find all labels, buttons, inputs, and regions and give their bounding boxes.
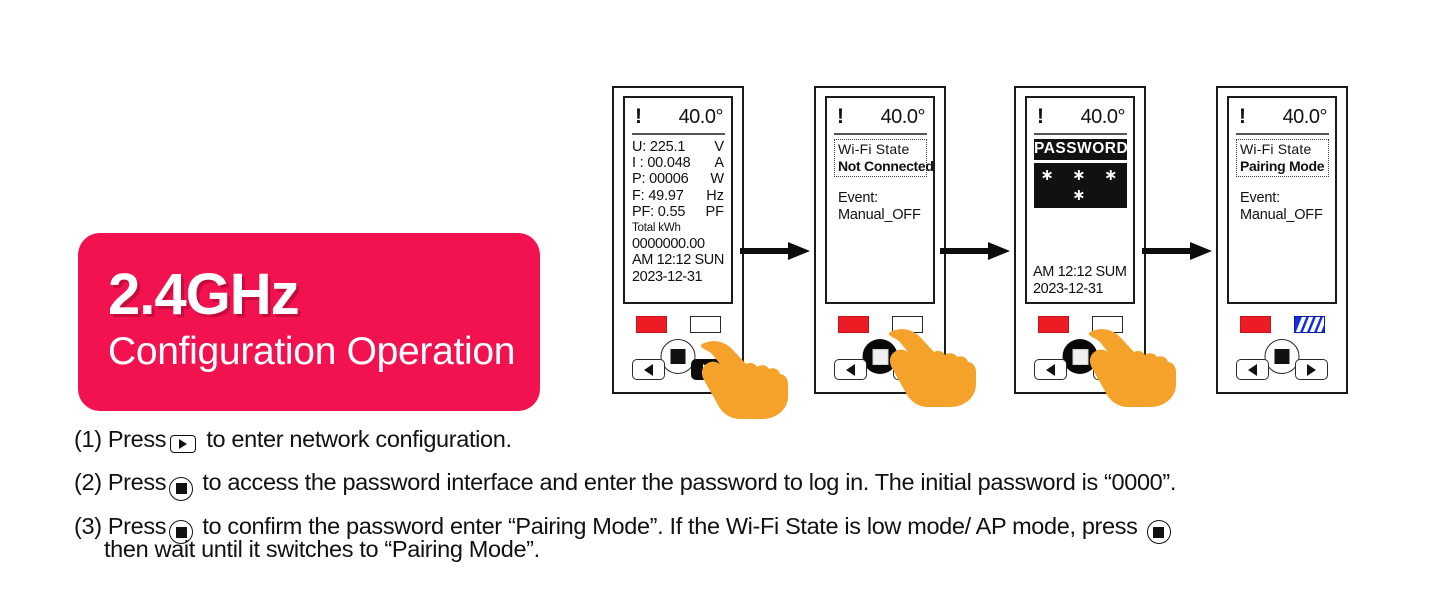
reading-row: PF: 0.55 PF [632, 204, 725, 220]
wifi-state-box: Wi-Fi State Not Connected [834, 139, 927, 177]
right-arrow-button-icon [170, 435, 196, 453]
reading-label: PF: 0.55 [632, 204, 685, 220]
reading-label: U: 225.1 [632, 139, 685, 155]
banner-2-4ghz: 2.4GHz Configuration Operation [78, 233, 540, 411]
reading-unit: Hz [706, 188, 725, 204]
wifi-state-value: Pairing Mode [1240, 158, 1325, 175]
measurement-list: U: 225.1 V I : 00.048 A P: 00006 W F: 49… [631, 139, 726, 286]
ok-button-icon [169, 477, 193, 501]
step-1-prefix: (1) Press [74, 424, 166, 455]
flow-arrow-icon [940, 240, 1012, 262]
reading-row: F: 49.97 Hz [632, 188, 725, 204]
device-panel-1: ! 40.0° U: 225.1 V I : 00.048 A P: 00006… [612, 86, 744, 394]
left-arrow-icon [644, 364, 653, 376]
alert-icon: ! [1239, 106, 1246, 127]
flow-arrow-icon [740, 240, 812, 262]
device-panel-3: ! 40.0° PASSWORD ∗ ∗ ∗ ∗ AM 12:12 SUM 20… [1014, 86, 1146, 394]
switch-indicator-red[interactable] [1240, 316, 1271, 333]
password-title-bar: PASSWORD [1034, 139, 1127, 160]
right-arrow-button[interactable] [893, 359, 926, 380]
ok-button-square [1072, 349, 1088, 365]
left-arrow-icon [846, 364, 855, 376]
left-arrow-button[interactable] [1236, 359, 1269, 380]
banner-subtitle: Configuration Operation [108, 330, 540, 375]
temperature-readout: 40.0° [1283, 107, 1327, 127]
keypad-3 [1025, 310, 1135, 386]
reading-label: F: 49.97 [632, 188, 684, 204]
switch-indicator-red[interactable] [838, 316, 869, 333]
left-arrow-icon [1046, 364, 1055, 376]
lcd-status-bar: ! 40.0° [833, 102, 928, 130]
reading-unit: PF [705, 204, 725, 220]
instruction-line-2: (2) Press to access the password interfa… [74, 467, 1424, 498]
date-readout: 2023-12-31 [1033, 281, 1128, 298]
step-2-prefix: (2) Press [74, 467, 166, 498]
left-arrow-button[interactable] [632, 359, 665, 380]
event-block: Event: Manual_OFF [1235, 190, 1330, 225]
alert-icon: ! [635, 106, 642, 127]
right-arrow-button[interactable] [691, 359, 724, 380]
total-kwh-label: Total kWh [632, 221, 725, 235]
left-arrow-button[interactable] [834, 359, 867, 380]
device-panel-4: ! 40.0° Wi-Fi State Pairing Mode Event: … [1216, 86, 1348, 394]
lcd-status-bar: ! 40.0° [631, 102, 726, 130]
lcd-screen-3: ! 40.0° PASSWORD ∗ ∗ ∗ ∗ AM 12:12 SUM 20… [1025, 96, 1135, 304]
keypad-2 [825, 310, 935, 386]
wifi-state-label: Wi-Fi State [838, 141, 923, 158]
step-2-text: to access the password interface and ent… [196, 467, 1176, 498]
wifi-state-label: Wi-Fi State [1240, 141, 1325, 158]
lcd-divider [834, 133, 927, 135]
reading-row: I : 00.048 A [632, 155, 725, 171]
alert-icon: ! [837, 106, 844, 127]
banner-title: 2.4GHz [108, 265, 540, 324]
lcd-divider [1236, 133, 1329, 135]
ok-button-square [671, 349, 686, 364]
device-panel-2: ! 40.0° Wi-Fi State Not Connected Event:… [814, 86, 946, 394]
lcd-status-bar: ! 40.0° [1235, 102, 1330, 130]
clock-readout: AM 12:12 SUN [632, 252, 725, 269]
switch-indicator-white[interactable] [690, 316, 721, 333]
reading-row: P: 00006 W [632, 171, 725, 187]
reading-unit: V [714, 139, 725, 155]
right-arrow-button[interactable] [1093, 359, 1126, 380]
lcd-divider [632, 133, 725, 135]
diagram-canvas: 2.4GHz Configuration Operation ! 40.0° U… [0, 0, 1445, 592]
clock-block: AM 12:12 SUM 2023-12-31 [1033, 264, 1128, 298]
switch-indicator-white[interactable] [892, 316, 923, 333]
right-arrow-button[interactable] [1295, 359, 1328, 380]
left-arrow-button[interactable] [1034, 359, 1067, 380]
password-mask-field[interactable]: ∗ ∗ ∗ ∗ [1034, 163, 1127, 208]
switch-indicator-white[interactable] [1092, 316, 1123, 333]
switch-indicator-red[interactable] [1038, 316, 1069, 333]
reading-label: I : 00.048 [632, 155, 690, 171]
keypad-1 [623, 310, 733, 386]
reading-label: P: 00006 [632, 171, 688, 187]
reading-unit: A [714, 155, 725, 171]
temperature-readout: 40.0° [1081, 107, 1125, 127]
lcd-screen-4: ! 40.0° Wi-Fi State Pairing Mode Event: … [1227, 96, 1337, 304]
lcd-status-bar: ! 40.0° [1033, 102, 1128, 130]
event-value: Manual_OFF [1240, 207, 1330, 224]
right-arrow-icon [1307, 364, 1316, 376]
flow-arrow-icon [1142, 240, 1214, 262]
ok-button-square [872, 349, 888, 365]
clock-readout: AM 12:12 SUM [1033, 264, 1128, 281]
reading-unit: W [710, 171, 725, 187]
wifi-active-icon[interactable] [1294, 316, 1325, 333]
ok-button-square [1275, 349, 1290, 364]
temperature-readout: 40.0° [881, 107, 925, 127]
lcd-divider [1034, 133, 1127, 135]
total-kwh-value: 0000000.00 [632, 236, 725, 253]
right-arrow-icon [703, 364, 712, 376]
instruction-line-1: (1) Press to enter network configuration… [74, 424, 1424, 455]
temperature-readout: 40.0° [679, 107, 723, 127]
event-label: Event: [1240, 190, 1330, 207]
keypad-4 [1227, 310, 1337, 386]
event-value: Manual_OFF [838, 207, 928, 224]
event-block: Event: Manual_OFF [833, 190, 928, 225]
switch-indicator-red[interactable] [636, 316, 667, 333]
lcd-screen-1: ! 40.0° U: 225.1 V I : 00.048 A P: 00006… [623, 96, 733, 304]
step-1-text: to enter network configuration. [200, 424, 511, 455]
left-arrow-icon [1248, 364, 1257, 376]
wifi-state-box: Wi-Fi State Pairing Mode [1236, 139, 1329, 177]
event-label: Event: [838, 190, 928, 207]
wifi-state-value: Not Connected [838, 158, 923, 175]
instruction-list: (1) Press to enter network configuration… [74, 424, 1424, 563]
lcd-screen-2: ! 40.0° Wi-Fi State Not Connected Event:… [825, 96, 935, 304]
date-readout: 2023-12-31 [632, 269, 725, 286]
reading-row: U: 225.1 V [632, 139, 725, 155]
alert-icon: ! [1037, 106, 1044, 127]
